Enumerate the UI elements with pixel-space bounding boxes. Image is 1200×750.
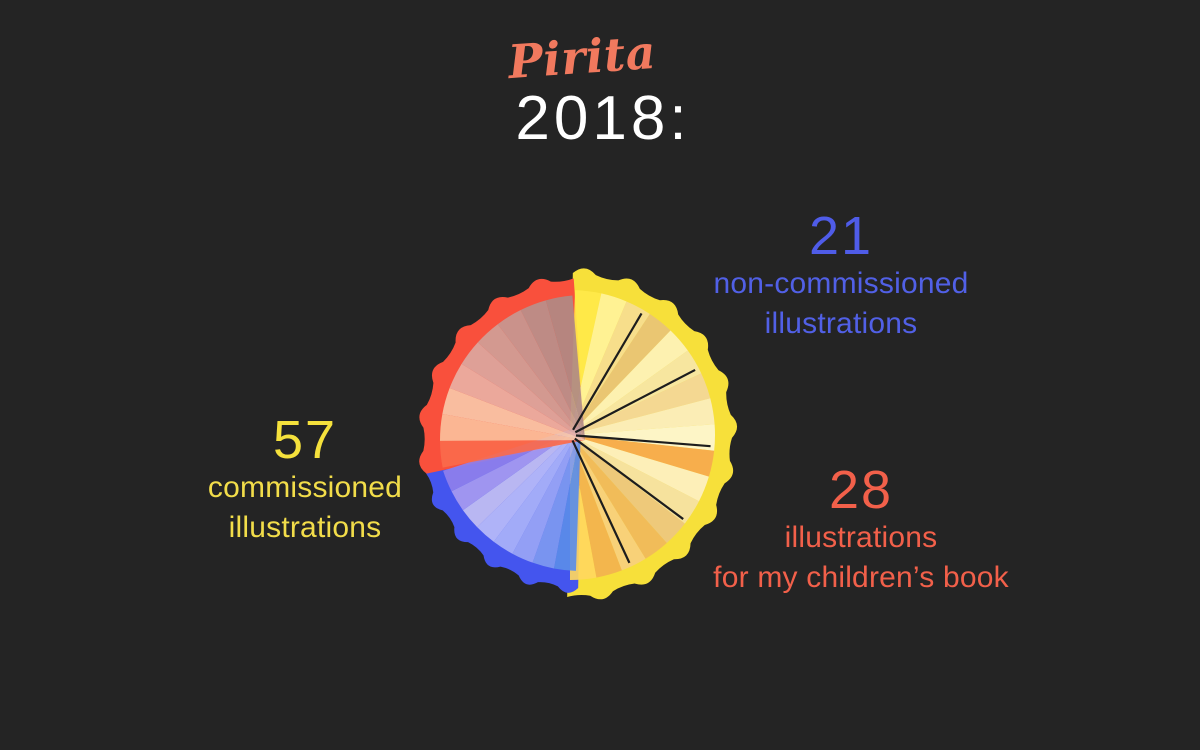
infographic-canvas: Pirita 2018: 21 non-commissioned illustr… — [0, 0, 1200, 750]
year-title: 2018: — [6, 86, 1200, 152]
legend-commissioned-line1: commissioned — [178, 468, 432, 508]
brand-title: Pirita — [0, 0, 1200, 123]
pie-chart-svg — [400, 255, 800, 655]
legend-commissioned-line2: illustrations — [178, 508, 432, 548]
legend-commissioned: 57 commissioned illustrations — [178, 412, 432, 548]
legend-commissioned-count: 57 — [178, 412, 432, 468]
header: Pirita 2018: — [0, 34, 1200, 152]
pie-chart — [400, 255, 800, 655]
